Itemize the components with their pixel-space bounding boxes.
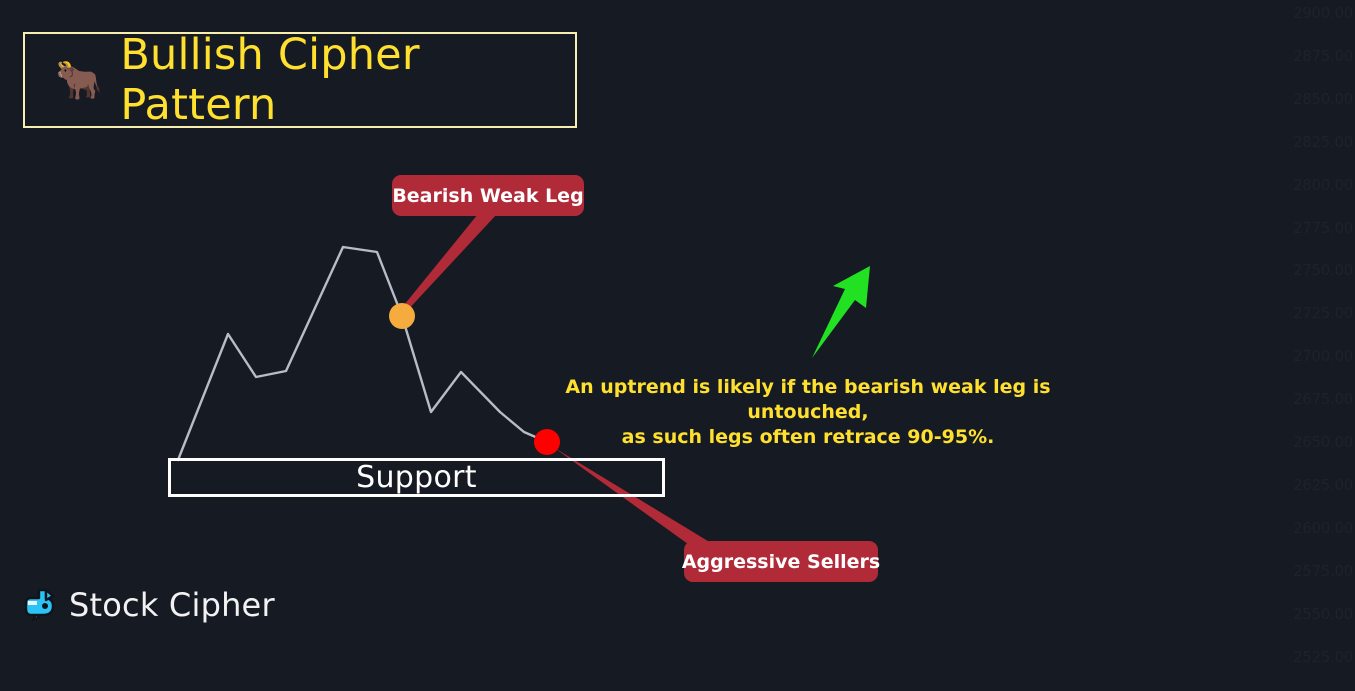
uptrend-annotation-line1: An uptrend is likely if the bearish weak…: [508, 375, 1108, 425]
price-line: [178, 247, 547, 460]
bull-emoji: 🐂: [55, 61, 102, 99]
stock-cipher-whale-logo: [22, 587, 58, 623]
callout-aggressive-sellers: Aggressive Sellers: [684, 541, 878, 582]
callout-label: Bearish Weak Leg: [392, 185, 583, 207]
support-label: Support: [356, 460, 477, 495]
weak-leg-marker: [389, 303, 415, 329]
support-zone-box: Support: [168, 458, 665, 497]
uptrend-annotation-line2: as such legs often retrace 90-95%.: [508, 425, 1108, 450]
uptrend-annotation: An uptrend is likely if the bearish weak…: [508, 375, 1108, 450]
uptrend-arrow-icon: [812, 266, 870, 358]
weak-leg-connector: [400, 214, 497, 313]
brand-name: Stock Cipher: [69, 586, 275, 624]
page-title: Bullish Cipher Pattern: [120, 30, 575, 130]
brand-watermark: Stock Cipher: [22, 586, 275, 624]
callout-label: Aggressive Sellers: [682, 551, 880, 573]
callout-bearish-weak-leg: Bearish Weak Leg: [392, 175, 584, 216]
chart-canvas: 2900.002875.002850.002825.002800.002775.…: [0, 0, 1355, 691]
title-banner: 🐂 Bullish Cipher Pattern: [23, 32, 577, 128]
